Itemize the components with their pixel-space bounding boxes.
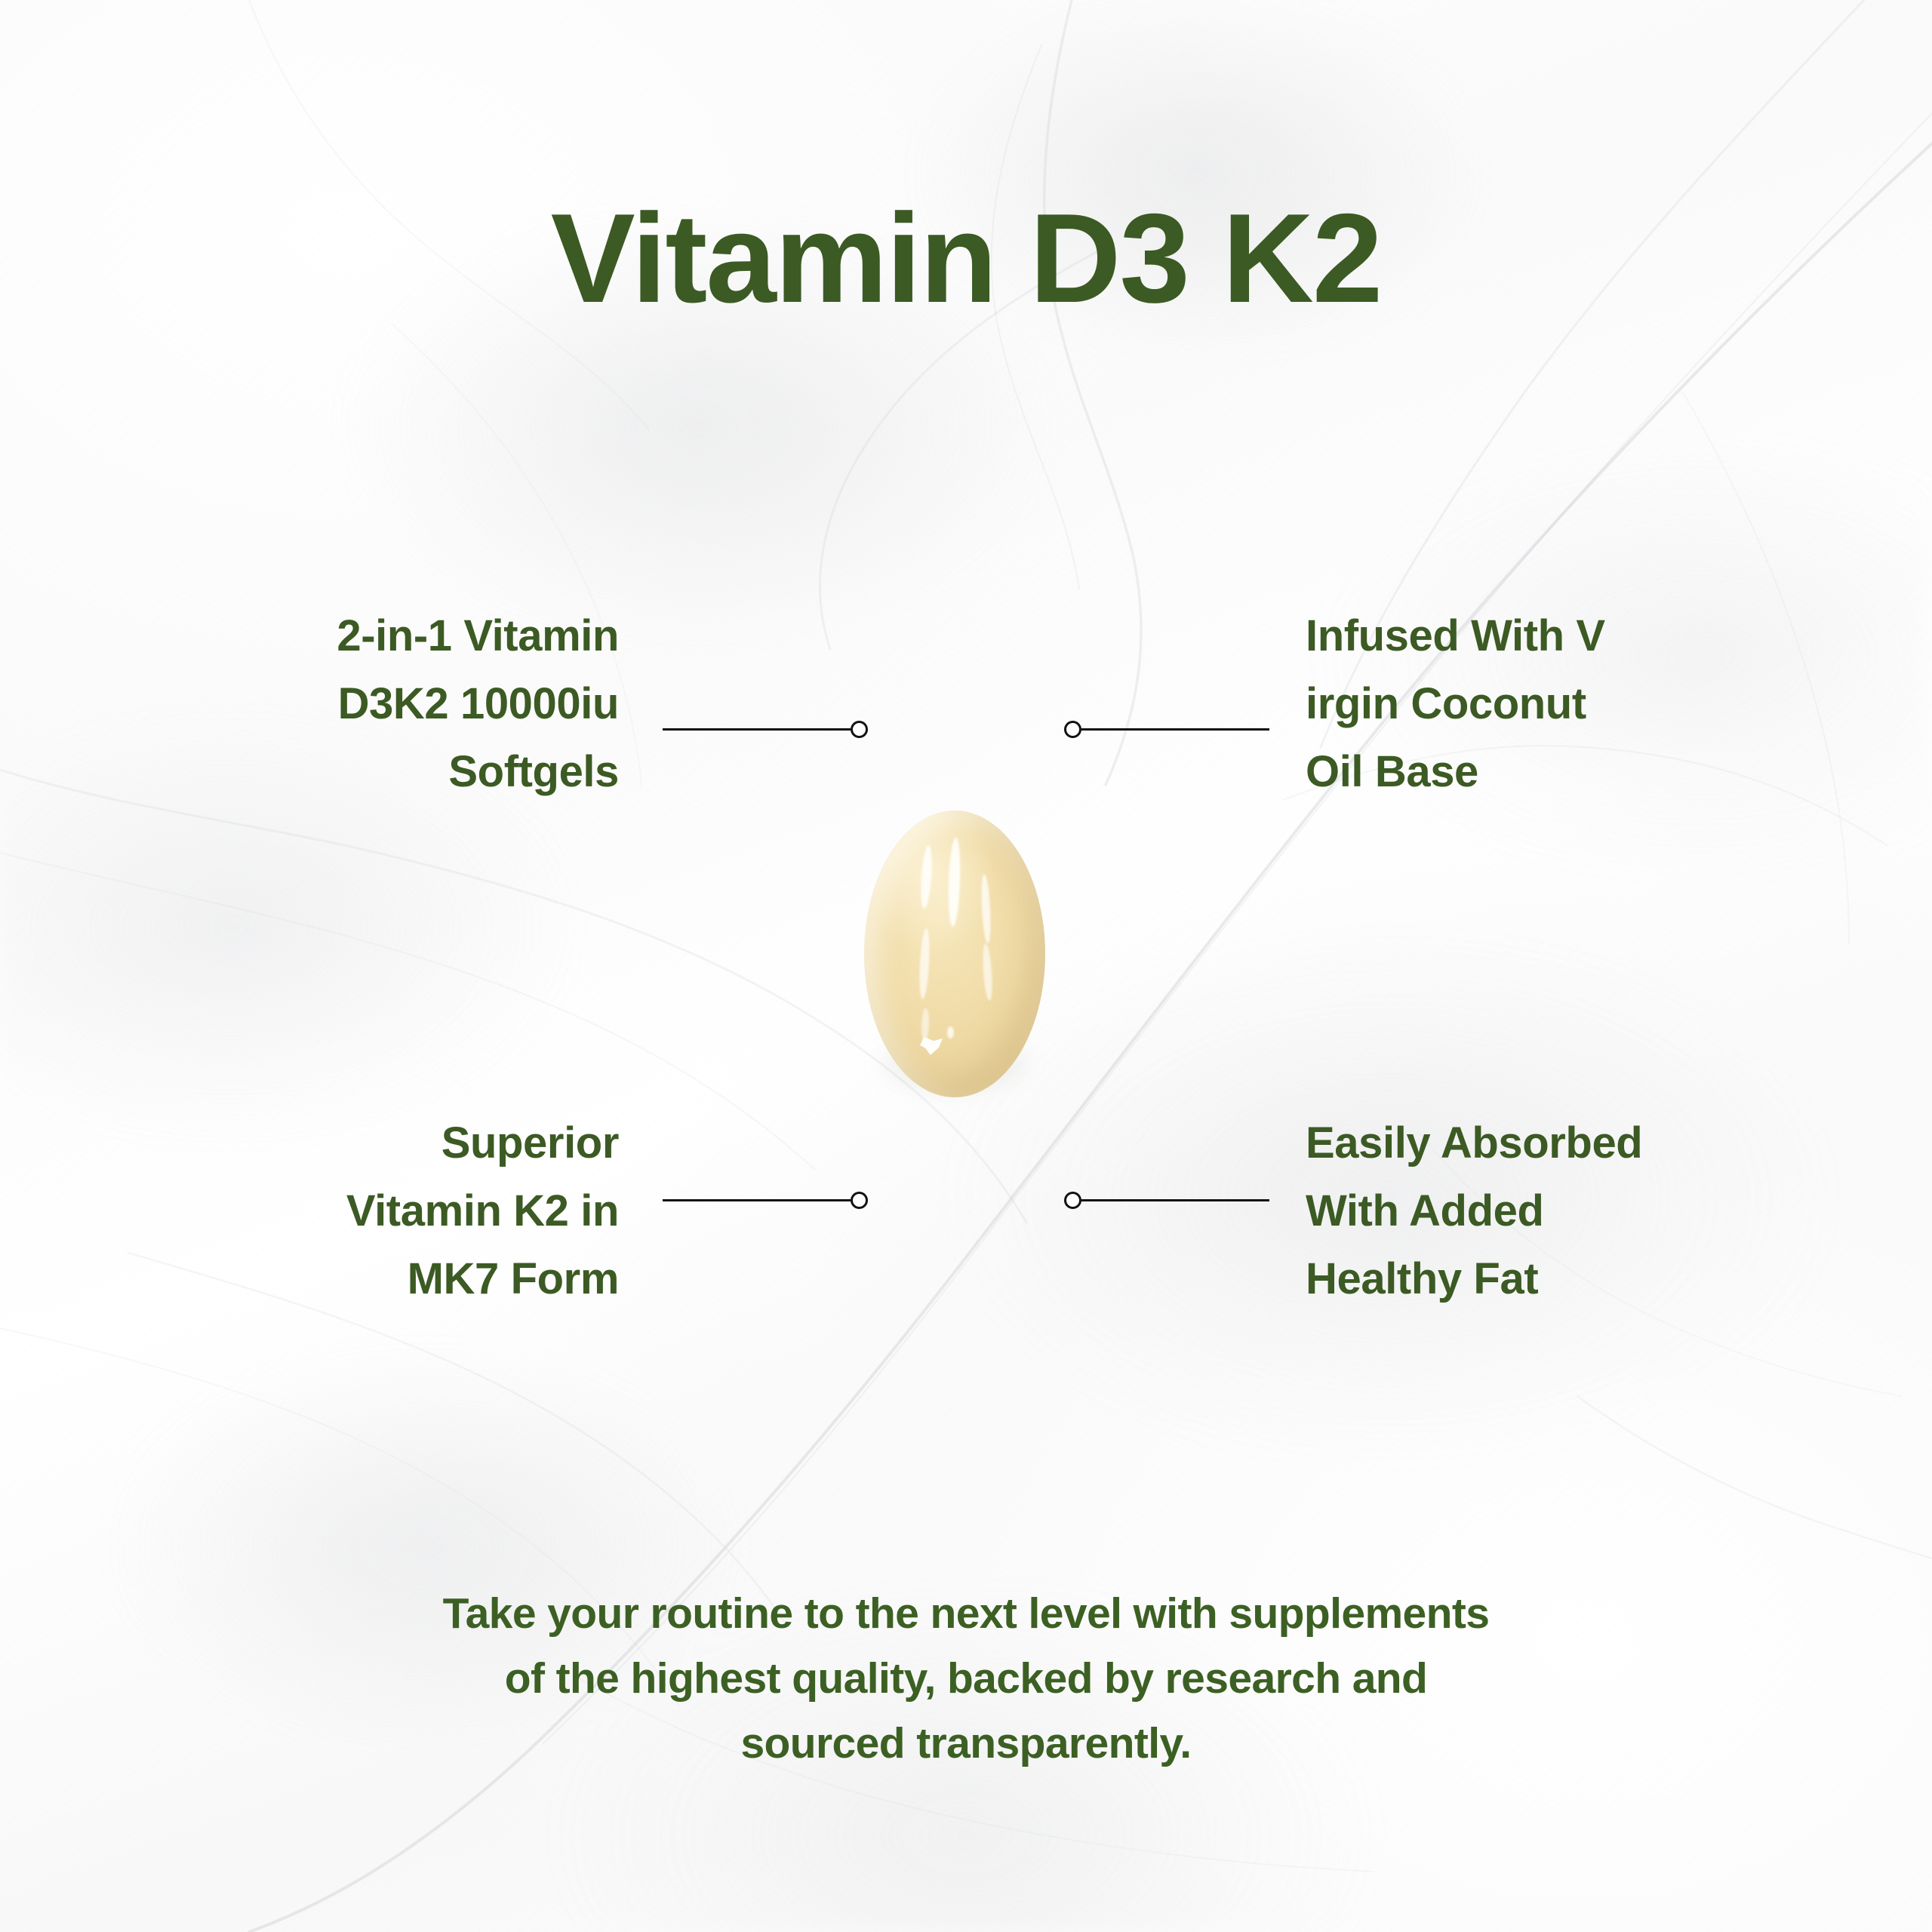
feature-label-bottom-right: Easily Absorbed With Added Healthy Fat <box>1306 1109 1834 1313</box>
softgel-capsule-image <box>864 811 1045 1097</box>
capsule-highlight <box>921 1008 930 1041</box>
feature-label-bottom-left: Superior Vitamin K2 in MK7 Form <box>91 1109 619 1313</box>
connector-top-right <box>1064 719 1269 739</box>
connector-dot <box>851 721 868 738</box>
capsule-sparkle-highlight <box>920 1037 943 1055</box>
connector-top-left <box>663 719 868 739</box>
connector-dot <box>1064 1192 1081 1209</box>
page-title: Vitamin D3 K2 <box>0 195 1932 321</box>
connector-dot <box>1064 721 1081 738</box>
connector-line <box>663 1199 851 1201</box>
connector-line <box>1081 1199 1269 1201</box>
capsule-highlight <box>918 928 931 999</box>
capsule-highlight <box>947 838 961 927</box>
feature-label-top-right: Infused With V irgin Coconut Oil Base <box>1306 602 1834 806</box>
product-infographic: Vitamin D3 K2 2-in-1 Vitamin D3K2 10000i… <box>0 0 1932 1932</box>
feature-label-top-left: 2-in-1 Vitamin D3K2 10000iu Softgels <box>91 602 619 806</box>
connector-dot <box>851 1192 868 1209</box>
connector-line <box>663 728 851 731</box>
connector-bottom-right <box>1064 1190 1269 1210</box>
capsule-highlight <box>980 874 992 943</box>
capsule-highlight <box>919 845 934 909</box>
capsule-highlight <box>981 943 993 1001</box>
connector-line <box>1081 728 1269 731</box>
footer-tagline: Take your routine to the next level with… <box>0 1581 1932 1776</box>
connector-bottom-left <box>663 1190 868 1210</box>
capsule-highlight <box>947 1026 954 1038</box>
capsule-body <box>864 811 1045 1097</box>
